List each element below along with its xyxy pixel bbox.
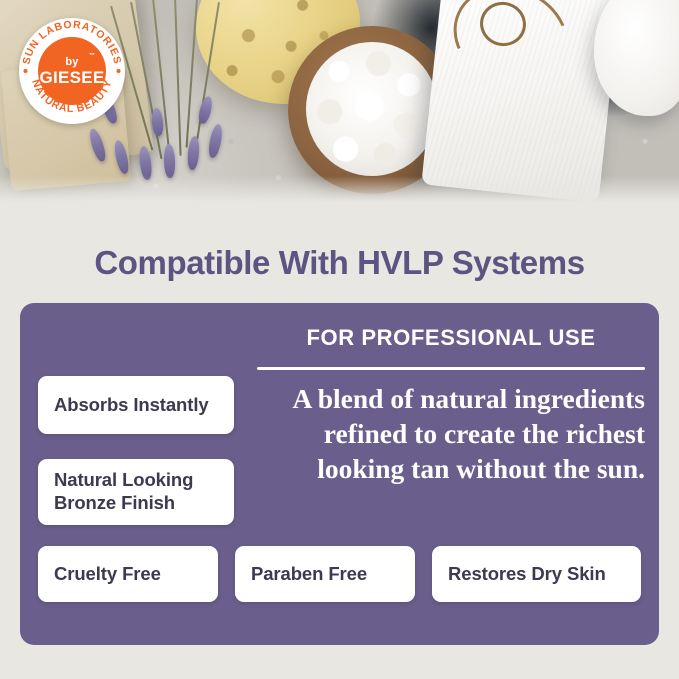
feature-pill-paraben-free: Paraben Free (235, 546, 415, 602)
features-panel: FOR PROFESSIONAL USE A blend of natural … (20, 303, 659, 645)
professional-use-heading: FOR PROFESSIONAL USE (257, 325, 645, 351)
feature-pill-cruelty-free: Cruelty Free (38, 546, 218, 602)
feature-label: Absorbs Instantly (54, 394, 209, 417)
feature-pill-absorbs-instantly: Absorbs Instantly (38, 376, 234, 434)
feature-label: Natural Looking Bronze Finish (54, 469, 218, 514)
feature-label: Restores Dry Skin (448, 563, 606, 586)
logo-by-label: by (65, 57, 78, 68)
feature-pill-restores-dry-skin: Restores Dry Skin (432, 546, 641, 602)
feature-label: Paraben Free (251, 563, 367, 586)
logo-brand-name: GIESEE (39, 69, 104, 86)
product-feature-graphic: SUN LABORATORIES NATURAL BEAUTY by GIESE… (0, 0, 679, 679)
page-title: Compatible With HVLP Systems (0, 244, 679, 282)
logo-core-circle: by GIESEE ™ (38, 37, 106, 105)
brand-logo-badge: SUN LABORATORIES NATURAL BEAUTY by GIESE… (19, 18, 125, 124)
salt-bowl-interior (306, 42, 438, 176)
logo-core-text: by GIESEE (38, 37, 106, 105)
bath-salt (306, 42, 438, 176)
logo-dot-left (24, 69, 28, 73)
logo-trademark-symbol: ™ (89, 53, 95, 59)
feature-label: Cruelty Free (54, 563, 161, 586)
lavender-bundle (100, 0, 290, 186)
feature-pill-natural-looking-bronze-finish: Natural Looking Bronze Finish (38, 459, 234, 525)
logo-dot-right (117, 69, 121, 73)
heading-divider (257, 367, 645, 370)
product-description: A blend of natural ingredients refined t… (235, 381, 645, 487)
photo-bottom-fade (0, 176, 679, 202)
